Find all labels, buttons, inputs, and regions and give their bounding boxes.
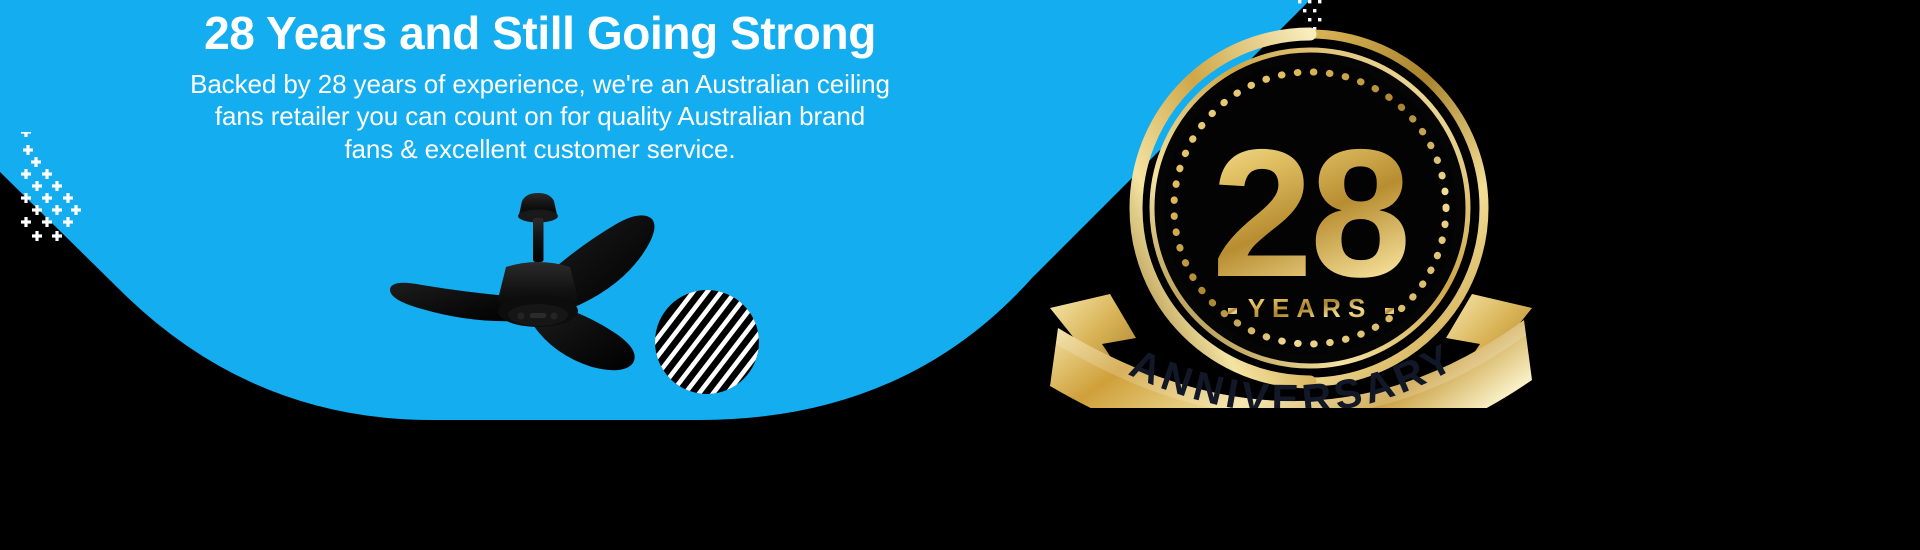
striped-circle-decoration bbox=[650, 290, 765, 395]
badge-years-label: YEARS bbox=[1228, 293, 1394, 323]
banner-stage: 28 Years and Still Going Strong Backed b… bbox=[0, 0, 1920, 550]
badge-years-word: YEARS bbox=[1248, 293, 1373, 323]
description-line-2: fans retailer you can count on for quali… bbox=[0, 100, 1080, 133]
banner-description: Backed by 28 years of experience, we're … bbox=[0, 68, 1080, 166]
plus-dot-pattern bbox=[6, 132, 86, 247]
description-line-3: fans & excellent customer service. bbox=[0, 133, 1080, 166]
anniversary-badge: 28 YEARS ANNIVERSARY bbox=[1040, 8, 1540, 408]
badge-number: 28 bbox=[1212, 111, 1408, 315]
page-title: 28 Years and Still Going Strong bbox=[0, 8, 1080, 60]
banner-copy: 28 Years and Still Going Strong Backed b… bbox=[0, 8, 1080, 166]
description-line-1: Backed by 28 years of experience, we're … bbox=[0, 68, 1080, 101]
